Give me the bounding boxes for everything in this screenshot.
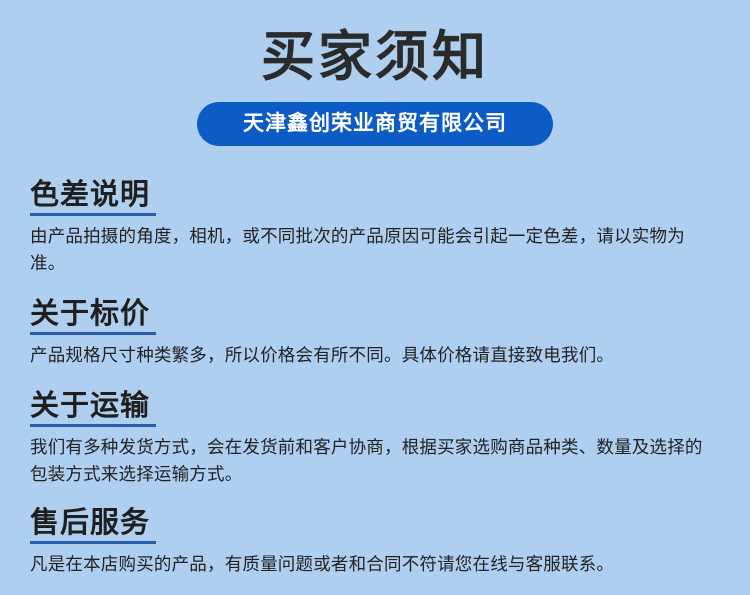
section-body-color-difference: 由产品拍摄的角度，相机，或不同批次的产品原因可能会引起一定色差，请以实物为准。: [30, 223, 720, 277]
section-body-pricing: 产品规格尺寸种类繁多，所以价格会有所不同。具体价格请直接致电我们。: [30, 342, 720, 369]
section-heading-shipping: 关于运输: [30, 389, 156, 427]
page-title: 买家须知: [0, 26, 750, 88]
section-pricing: 关于标价 产品规格尺寸种类繁多，所以价格会有所不同。具体价格请直接致电我们。: [30, 297, 722, 369]
section-after-sales: 售后服务 凡是在本店购买的产品，有质量问题或者和合同不符请您在线与客服联系。: [30, 506, 722, 578]
section-shipping: 关于运输 我们有多种发货方式，会在发货前和客户协商，根据买家选购商品种类、数量及…: [30, 389, 722, 488]
section-color-difference: 色差说明 由产品拍摄的角度，相机，或不同批次的产品原因可能会引起一定色差，请以实…: [30, 178, 722, 277]
section-heading-after-sales: 售后服务: [30, 506, 156, 544]
section-heading-color-difference: 色差说明: [30, 178, 156, 216]
section-heading-pricing: 关于标价: [30, 297, 156, 335]
section-body-shipping: 我们有多种发货方式，会在发货前和客户协商，根据买家选购商品种类、数量及选择的包装…: [30, 434, 720, 488]
section-body-after-sales: 凡是在本店购买的产品，有质量问题或者和合同不符请您在线与客服联系。: [30, 551, 720, 578]
company-badge-wrapper: 天津鑫创荣业商贸有限公司: [0, 102, 750, 146]
company-name-badge: 天津鑫创荣业商贸有限公司: [197, 102, 553, 146]
notice-sections: 色差说明 由产品拍摄的角度，相机，或不同批次的产品原因可能会引起一定色差，请以实…: [30, 178, 722, 582]
page-header: 买家须知 天津鑫创荣业商贸有限公司: [0, 0, 750, 146]
buyer-notice-page: 买家须知 天津鑫创荣业商贸有限公司 色差说明 由产品拍摄的角度，相机，或不同批次…: [0, 0, 750, 595]
